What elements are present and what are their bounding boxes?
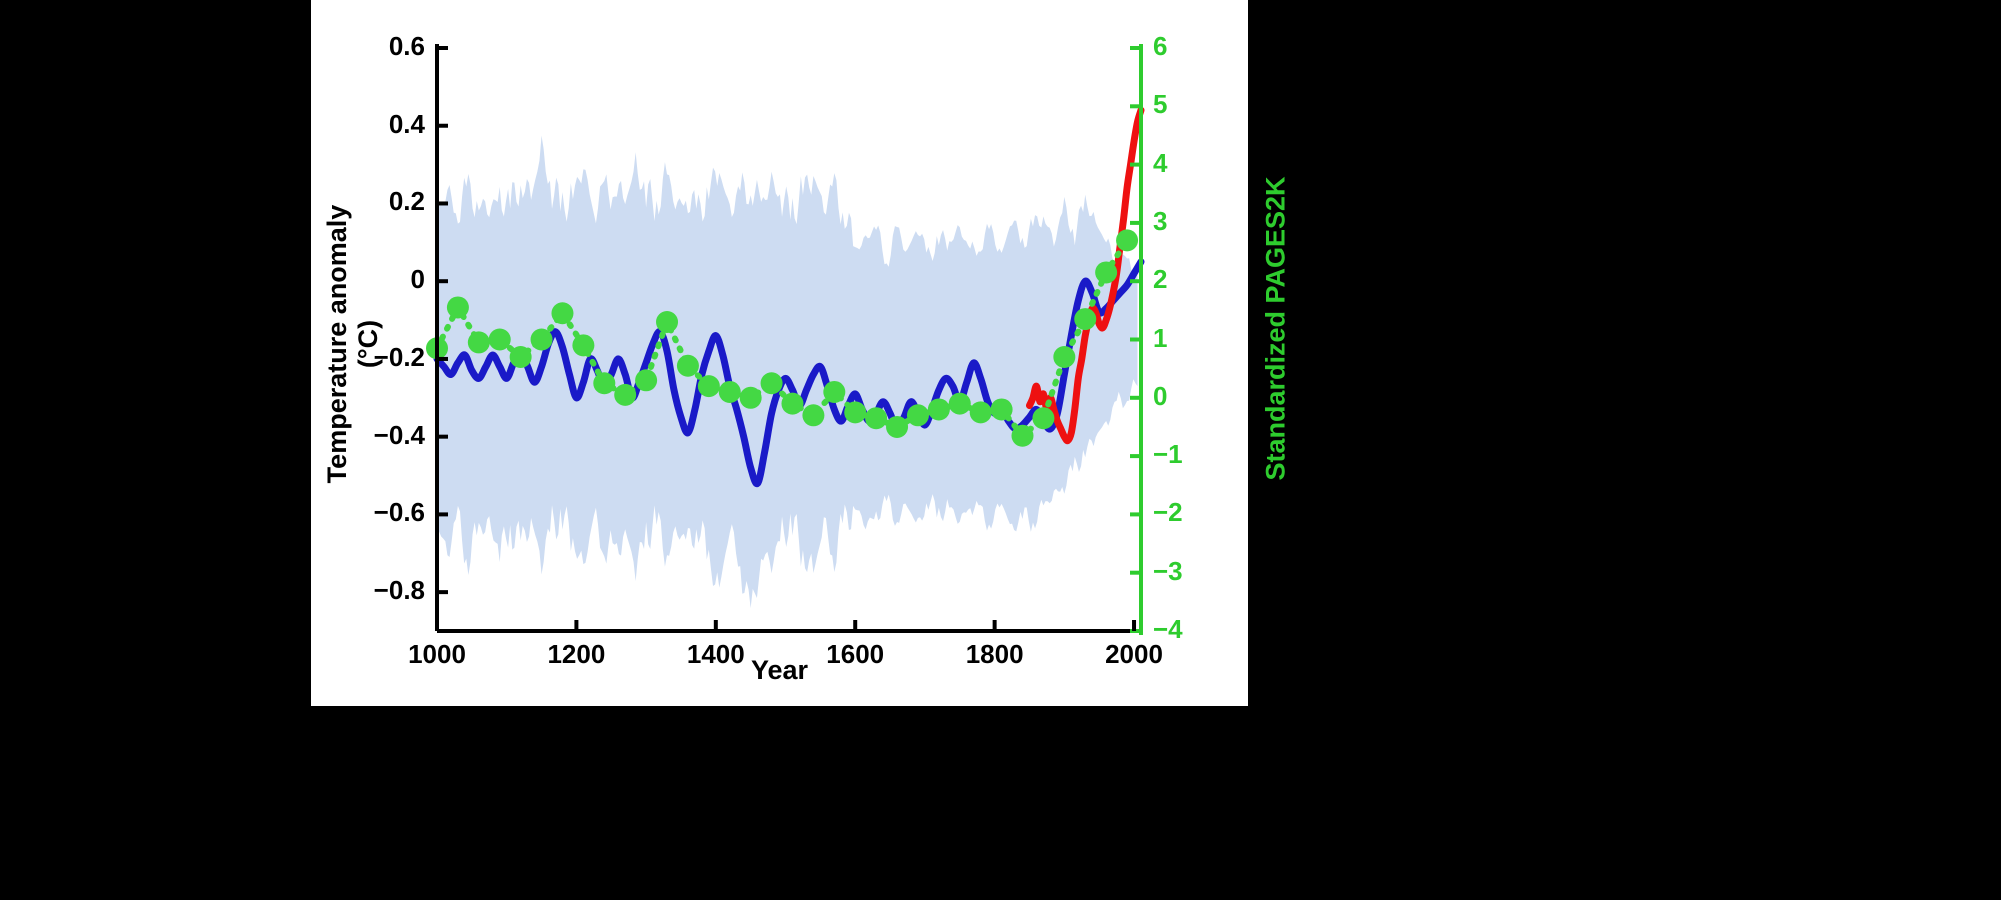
y-axis-right-tick-6: 0	[1153, 381, 1167, 412]
y-axis-right-tick-5: 1	[1153, 323, 1167, 354]
letterbox-bottom	[311, 706, 1248, 900]
y-axis-left-tick-1: 0.4	[389, 109, 425, 140]
chart-panel: Temperature anomaly (°C) Standardized PA…	[311, 0, 1248, 706]
x-axis-tick-1: 1200	[536, 639, 616, 670]
x-axis-tick-5: 2000	[1094, 639, 1174, 670]
y-axis-right-tick-1: 5	[1153, 89, 1167, 120]
x-axis-tick-2: 1400	[676, 639, 756, 670]
y-axis-right-tick-8: −2	[1153, 497, 1183, 528]
x-axis-tick-4: 1800	[955, 639, 1035, 670]
y-axis-right-tick-2: 4	[1153, 148, 1167, 179]
figure-stage: Temperature anomaly (°C) Standardized PA…	[0, 0, 2001, 900]
x-axis-tick-0: 1000	[397, 639, 477, 670]
chart-svg	[311, 0, 1248, 706]
y-axis-right-tick-9: −3	[1153, 556, 1183, 587]
y-axis-left-tick-7: −0.8	[374, 575, 425, 606]
y-axis-left-tick-0: 0.6	[389, 31, 425, 62]
y-axis-right-tick-4: 2	[1153, 264, 1167, 295]
y-axis-right-tick-0: 6	[1153, 31, 1167, 62]
y-axis-left-tick-3: 0	[411, 264, 425, 295]
x-axis-tick-3: 1600	[815, 639, 895, 670]
y-axis-left-tick-6: −0.6	[374, 497, 425, 528]
y-axis-left-tick-5: −0.4	[374, 420, 425, 451]
y-axis-right-tick-7: −1	[1153, 439, 1183, 470]
y-axis-right-label: Standardized PAGES2K	[1261, 159, 1292, 499]
y-axis-left-tick-2: 0.2	[389, 186, 425, 217]
y-axis-right-tick-3: 3	[1153, 206, 1167, 237]
y-axis-left-tick-4: −0.2	[374, 342, 425, 373]
